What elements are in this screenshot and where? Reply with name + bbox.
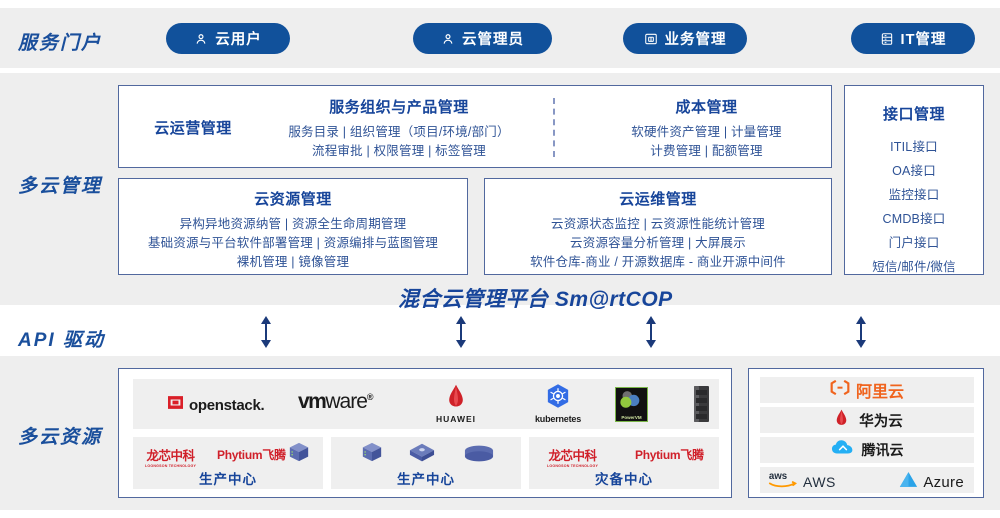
interface-management-title: 接口管理 xyxy=(845,86,983,124)
cloud-ops-line: 云资源状态监控 | 云资源性能统计管理 xyxy=(485,215,831,234)
cloud-resource-line: 异构异地资源纳管 | 资源全生命周期管理 xyxy=(119,215,467,234)
huawei-label: HUAWEI xyxy=(426,414,486,424)
openstack-label: openstack. xyxy=(189,397,264,414)
huawei-logo: HUAWEI xyxy=(426,383,486,424)
kubernetes-icon xyxy=(545,396,571,413)
service-portal-label: 服务门户 xyxy=(18,28,102,55)
tencentcloud-label: 腾讯云 xyxy=(862,440,904,460)
azure-logo: Azure xyxy=(899,471,964,493)
server-cube-icon xyxy=(361,441,383,468)
interface-item: 监控接口 xyxy=(845,183,983,207)
portal-button-business-mgmt[interactable]: 业务管理 xyxy=(623,23,747,54)
portal-button-cloud-user[interactable]: 云用户 xyxy=(166,23,290,54)
powervm-logo: PowerVM xyxy=(615,387,648,422)
phytium-logo: Phytium飞腾 xyxy=(635,446,704,463)
service-org-title: 服务组织与产品管理 xyxy=(269,96,529,117)
svg-text:aws: aws xyxy=(769,471,787,482)
aws-icon: aws xyxy=(768,468,798,495)
loongson-logo: 龙芯中科 LOONGSON TECHNOLOGY xyxy=(145,445,196,468)
phytium-logo: Phytium飞腾 xyxy=(217,446,286,463)
kubernetes-logo: kubernetes xyxy=(519,383,597,424)
bidirectional-arrow-icon xyxy=(645,316,657,353)
alicloud-icon xyxy=(830,380,850,400)
datacenter-disaster-recovery: 龙芯中科 LOONGSON TECHNOLOGY Phytium飞腾 灾备中心 xyxy=(529,437,719,489)
datacenter-production-1: 龙芯中科 LOONGSON TECHNOLOGY Phytium飞腾 生产中心 xyxy=(133,437,323,489)
public-cloud-box: 阿里云 华为云 腾讯云 aws AWS Azu xyxy=(748,368,984,498)
cost-group: 成本管理 软硬件资产管理 | 计量管理 计费管理 | 配额管理 xyxy=(589,96,824,161)
datacenter-label: 灾备中心 xyxy=(529,468,719,488)
cloud-ops-line: 云资源容量分析管理 | 大屏展示 xyxy=(485,234,831,253)
bidirectional-arrow-icon xyxy=(455,316,467,353)
openstack-icon xyxy=(168,395,183,415)
interface-item: 门户接口 xyxy=(845,231,983,255)
interface-item: OA接口 xyxy=(845,159,983,183)
datacenter-production-2: 生产中心 xyxy=(331,437,521,489)
kubernetes-label: kubernetes xyxy=(519,414,597,424)
interface-management-box: 接口管理 ITIL接口 OA接口 监控接口 CMDB接口 门户接口 短信/邮件/… xyxy=(844,85,984,275)
service-org-line: 流程审批 | 权限管理 | 标签管理 xyxy=(269,142,529,161)
interface-item: CMDB接口 xyxy=(845,207,983,231)
cloud-resource-box: 云资源管理 异构异地资源纳管 | 资源全生命周期管理 基础资源与平台软件部署管理… xyxy=(118,178,468,275)
portal-button-label: 业务管理 xyxy=(665,28,727,49)
cloud-operation-box: 云运营管理 服务组织与产品管理 服务目录 | 组织管理（项目/环境/部门） 流程… xyxy=(118,85,832,168)
cost-line: 计费管理 | 配额管理 xyxy=(589,142,824,161)
portal-button-label: 云管理员 xyxy=(462,28,524,49)
multicloud-management-label: 多云管理 xyxy=(18,171,102,198)
aws-logo: aws AWS xyxy=(768,468,836,495)
portal-button-it-mgmt[interactable]: IT管理 xyxy=(851,23,975,54)
cloud-ops-line: 软件仓库-商业 / 开源数据库 - 商业开源中间件 xyxy=(485,253,831,272)
alicloud-label: 阿里云 xyxy=(856,378,904,402)
azure-icon xyxy=(899,471,918,493)
portal-button-cloud-admin[interactable]: 云管理员 xyxy=(413,23,552,54)
tencentcloud-row: 腾讯云 xyxy=(760,437,974,463)
cost-title: 成本管理 xyxy=(589,96,824,117)
service-org-group: 服务组织与产品管理 服务目录 | 组织管理（项目/环境/部门） 流程审批 | 权… xyxy=(269,96,529,161)
datacenter-label: 生产中心 xyxy=(331,468,521,488)
user-icon xyxy=(194,32,208,46)
business-icon xyxy=(644,32,658,46)
network-switch-icon xyxy=(409,442,435,469)
aws-azure-row: aws AWS Azure xyxy=(760,467,974,493)
api-driven-label: API 驱动 xyxy=(18,325,105,352)
cloud-ops-box: 云运维管理 云资源状态监控 | 云资源性能统计管理 云资源容量分析管理 | 大屏… xyxy=(484,178,832,275)
vmware-logo: vmware® xyxy=(298,390,373,414)
huaweicloud-row: 华为云 xyxy=(760,407,974,433)
loongson-label: 龙芯中科 xyxy=(145,445,196,464)
aws-label: AWS xyxy=(803,474,836,490)
interface-item: ITIL接口 xyxy=(845,135,983,159)
server-rack-icon xyxy=(693,385,710,428)
bidirectional-arrow-icon xyxy=(260,316,272,353)
user-icon xyxy=(441,32,455,46)
vmware-label: vmware® xyxy=(298,390,373,413)
huaweicloud-label: 华为云 xyxy=(859,410,903,431)
cost-line: 软硬件资产管理 | 计量管理 xyxy=(589,123,824,142)
server-cube-icon xyxy=(288,441,310,468)
platform-title: 混合云管理平台 Sm@rtCOP xyxy=(398,283,673,313)
bidirectional-arrow-icon xyxy=(855,316,867,353)
alicloud-row: 阿里云 xyxy=(760,377,974,403)
powervm-label: PowerVM xyxy=(616,415,647,420)
tencentcloud-icon xyxy=(831,439,855,461)
private-cloud-box: openstack. vmware® HUAWEI xyxy=(118,368,732,498)
portal-button-label: IT管理 xyxy=(901,28,947,49)
service-org-line: 服务目录 | 组织管理（项目/环境/部门） xyxy=(269,123,529,142)
cloud-resource-title: 云资源管理 xyxy=(119,179,467,209)
cloud-operation-title: 云运营管理 xyxy=(133,117,253,138)
loongson-logo: 龙芯中科 LOONGSON TECHNOLOGY xyxy=(547,445,598,468)
cloud-resource-line: 裸机管理 | 镜像管理 xyxy=(119,253,467,272)
api-driven-band xyxy=(0,310,1000,352)
azure-label: Azure xyxy=(923,474,964,491)
loongson-label: 龙芯中科 xyxy=(547,445,598,464)
huawei-icon xyxy=(831,408,852,432)
datacenter-label: 生产中心 xyxy=(133,468,323,488)
portal-button-label: 云用户 xyxy=(215,28,262,49)
cloud-resource-line: 基础资源与平台软件部署管理 | 资源编排与蓝图管理 xyxy=(119,234,467,253)
huawei-icon xyxy=(441,396,471,413)
virtualization-platform-tile: openstack. vmware® HUAWEI xyxy=(133,379,719,429)
openstack-logo: openstack. xyxy=(168,395,264,415)
cloud-ops-title: 云运维管理 xyxy=(485,179,831,209)
powervm-icon: PowerVM xyxy=(615,387,648,422)
storage-disk-icon xyxy=(464,445,494,467)
it-icon xyxy=(880,32,894,46)
section-divider xyxy=(553,98,555,157)
interface-item: 短信/邮件/微信 xyxy=(845,255,983,279)
multicloud-resource-label: 多云资源 xyxy=(18,422,102,449)
